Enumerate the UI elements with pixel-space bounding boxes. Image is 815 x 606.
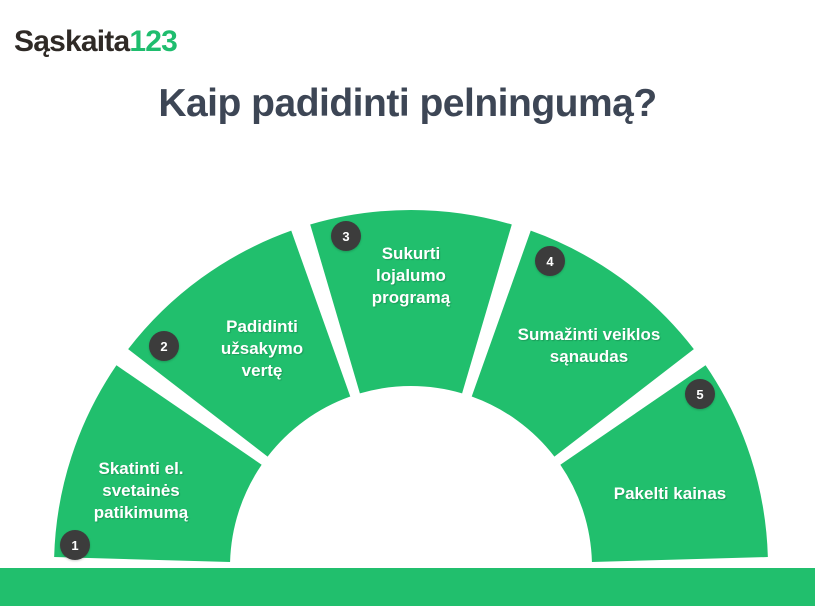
donut-svg [0, 0, 815, 606]
segment-badge-4[interactable]: 4 [535, 246, 565, 276]
segment-badge-1[interactable]: 1 [60, 530, 90, 560]
segment-badge-3[interactable]: 3 [331, 221, 361, 251]
half-donut-chart: Skatinti el. svetainės patikimumą 1 Padi… [0, 0, 815, 606]
bottom-accent-bar [0, 568, 815, 606]
segment-badge-2[interactable]: 2 [149, 331, 179, 361]
segment-badge-5[interactable]: 5 [685, 379, 715, 409]
donut-slice-group [54, 210, 768, 562]
